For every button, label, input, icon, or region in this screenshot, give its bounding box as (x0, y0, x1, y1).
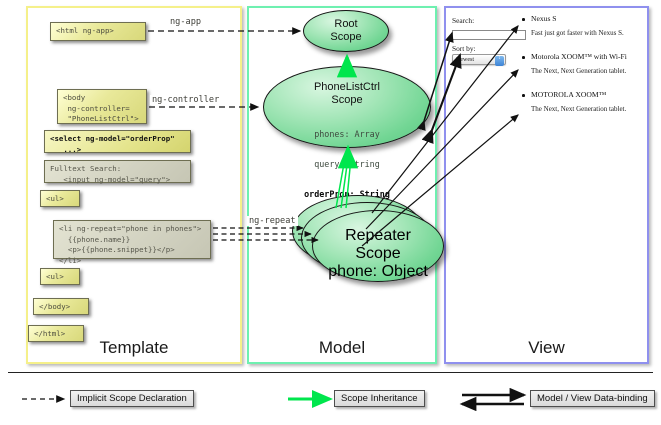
code-box-html-close: </html> (28, 325, 84, 342)
code-box-html-open: <html ng-app> (50, 22, 146, 41)
sort-by-select[interactable]: Newest ↕ (452, 54, 506, 65)
view-controls: Search: Sort by: Newest ↕ (452, 16, 528, 65)
root-scope-title-2: Scope (304, 31, 388, 44)
sort-by-selected-value: Newest (456, 57, 474, 63)
legend-label-scope-inheritance: Scope Inheritance (334, 390, 425, 407)
repeater-scope-title-2: Scope (313, 245, 443, 263)
code-box-fulltext: Fulltext Search: <input ng-model="query"… (44, 160, 191, 183)
connector-label-ng-controller: ng-controller (150, 95, 221, 105)
repeater-scope-stack: Repeater Scope phone: Object (292, 195, 452, 287)
search-input[interactable] (452, 30, 526, 40)
connector-label-ng-app: ng-app (168, 17, 203, 27)
phone-snippet: The Next, Next Generation tablet. (520, 105, 644, 114)
scope-property: phone: Object (313, 263, 443, 281)
search-label: Search: (452, 16, 528, 25)
code-box-body-open: <body ng-controller= "PhoneListCtrl"> (57, 89, 147, 124)
code-box-select: <select ng-model="orderProp" ...> (44, 130, 191, 153)
phone-snippet: Fast just got faster with Nexus S. (520, 29, 644, 38)
phone-name: Nexus S (520, 14, 644, 24)
code-box-ul-close: <ul> (40, 268, 80, 285)
panel-model-label: Model (249, 338, 435, 358)
root-scope-node: Root Scope (303, 10, 389, 52)
scope-property: query: String (264, 159, 430, 169)
code-box-li-repeat: <li ng-repeat="phone in phones"> {{phone… (53, 220, 211, 259)
legend-label-data-binding: Model / View Data-binding (530, 390, 655, 407)
code-box-ul-open: <ul> (40, 190, 80, 207)
repeater-scope-node-front: Repeater Scope phone: Object (312, 210, 444, 282)
phonelistctrl-scope-title-2: Scope (264, 94, 430, 107)
phonelistctrl-scope-title-1: PhoneListCtrl (264, 81, 430, 94)
phone-name: MOTOROLA XOOM™ (520, 90, 644, 100)
phonelistctrl-scope-node: PhoneListCtrl Scope phones: Array query:… (263, 66, 431, 148)
repeater-scope-title-1: Repeater (313, 227, 443, 245)
chevron-updown-icon: ↕ (495, 56, 504, 66)
scope-property: phones: Array (264, 129, 430, 139)
list-item: Nexus S Fast just got faster with Nexus … (520, 14, 644, 38)
repeater-scope-properties: phone: Object (313, 263, 443, 281)
connector-label-ng-repeat: ng-repeat (247, 216, 298, 226)
phone-list: Nexus S Fast just got faster with Nexus … (520, 14, 644, 128)
legend-divider (8, 372, 653, 373)
code-box-body-close: </body> (33, 298, 89, 315)
panel-view-label: View (446, 338, 647, 358)
phone-snippet: The Next, Next Generation tablet. (520, 67, 644, 76)
sort-by-label: Sort by: (452, 44, 528, 53)
list-item: Motorola XOOM™ with Wi-Fi The Next, Next… (520, 52, 644, 76)
list-item: MOTOROLA XOOM™ The Next, Next Generation… (520, 90, 644, 114)
legend: Implicit Scope Declaration Scope Inherit… (0, 380, 661, 425)
root-scope-title-1: Root (304, 18, 388, 31)
legend-label-implicit-scope: Implicit Scope Declaration (70, 390, 194, 407)
phone-name: Motorola XOOM™ with Wi-Fi (520, 52, 644, 62)
diagram-canvas: Template Model View <html ng-app> <body … (0, 0, 661, 425)
